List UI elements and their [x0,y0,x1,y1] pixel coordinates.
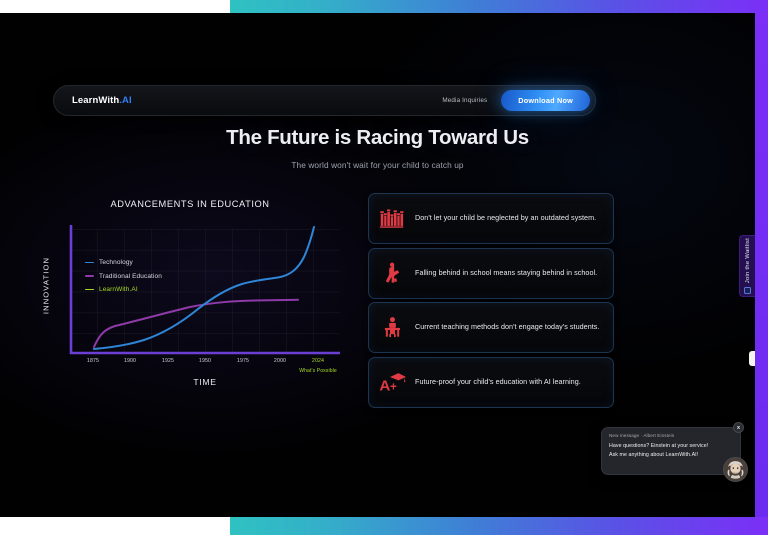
top-band-gradient-segment [230,0,768,13]
brand-logo-main: LearnWith [72,95,119,106]
chart-x-axis-label: TIME [70,377,340,387]
page-title: The Future is Racing Toward Us [0,126,755,150]
brand-logo-accent: .AI [119,95,131,106]
x-tick-1925: 1925 [162,358,174,364]
media-inquiries-link[interactable]: Media Inquiries [442,97,487,104]
avatar[interactable] [723,457,748,482]
svg-text:+: + [389,379,396,393]
brand-logo[interactable]: LearnWith.AI [72,95,132,106]
close-icon[interactable]: x [733,422,744,433]
legend-item-learnwithai: LearnWith.AI [85,286,162,293]
x-tick-2000: 2000 [274,358,286,364]
hero-subtitle: The world won't wait for your child to c… [0,160,755,170]
right-purple-rail [755,13,768,517]
svg-text:A: A [379,377,390,394]
chart-title: ADVANCEMENTS IN EDUCATION [25,199,355,209]
x-tick-1900: 1900 [124,358,136,364]
bottom-band-gradient-segment [230,517,768,535]
legend-swatch-traditional-education [85,275,94,277]
x-tick-1975: 1975 [237,358,249,364]
chart-legend: Technology Traditional Education LearnWi… [85,259,162,300]
x-tick-1950: 1950 [199,358,211,364]
falling-person-icon [377,257,407,289]
benefit-card-text: Future-proof your child's education with… [415,377,581,388]
benefit-card-text: Current teaching methods don't engage to… [415,322,600,333]
benefit-card-text: Don't let your child be neglected by an … [415,213,596,224]
browser-viewport: LearnWith.AI Media Inquiries Download No… [0,13,768,517]
crowd-people-icon [377,203,407,235]
scrollbar-handle[interactable] [749,351,755,366]
chart-annotation-whats-possible: What's Possible [299,368,337,374]
top-band-white-segment [0,0,230,13]
student-at-desk-icon [377,312,407,344]
landing-page: LearnWith.AI Media Inquiries Download No… [0,13,755,517]
a-plus-graduation-cap-icon: A + [377,366,407,398]
series-traditional-education [94,300,298,347]
benefit-card-teaching-methods[interactable]: Current teaching methods don't engage to… [368,302,614,353]
desktop-backdrop: LearnWith.AI Media Inquiries Download No… [0,0,768,535]
join-waitlist-label: Join the Waitlist [745,238,751,283]
chat-message-line-1: Have questions? Einstein at your service… [609,442,732,451]
benefit-card-falling-behind[interactable]: Falling behind in school means staying b… [368,248,614,299]
benefit-card-outdated-system[interactable]: Don't let your child be neglected by an … [368,193,614,244]
chat-meta-label: New message · Albert Einstein [609,433,732,438]
top-gradient-band [0,0,768,13]
hero-section: The Future is Racing Toward Us The world… [0,126,755,170]
top-navigation-bar: LearnWith.AI Media Inquiries Download No… [53,85,596,116]
legend-item-traditional-education: Traditional Education [85,273,162,280]
legend-swatch-technology [85,262,94,264]
waitlist-square-icon [744,287,751,294]
innovation-chart: ADVANCEMENTS IN EDUCATION INNOVATION [25,199,355,409]
chat-message-line-2: Ask me anything about LearnWith.AI! [609,451,732,460]
legend-label-technology: Technology [99,259,133,266]
benefit-cards-list: Don't let your child be neglected by an … [368,193,614,411]
benefit-card-future-proof[interactable]: A + Future-proof your child's education … [368,357,614,408]
legend-label-traditional-education: Traditional Education [99,273,162,280]
download-now-button[interactable]: Download Now [501,90,590,111]
x-tick-2024: 2024 [312,358,324,364]
legend-item-technology: Technology [85,259,162,266]
x-tick-1875: 1875 [87,358,99,364]
bottom-band-white-segment [0,517,230,535]
benefit-card-text: Falling behind in school means staying b… [415,268,597,279]
join-waitlist-tab[interactable]: Join the Waitlist [739,235,755,297]
chart-y-axis-label: INNOVATION [42,256,51,316]
chart-body: INNOVATION [25,225,355,385]
bottom-gradient-band [0,517,768,535]
legend-swatch-learnwithai [85,289,94,291]
legend-label-learnwithai: LearnWith.AI [99,286,138,293]
chat-notification-widget[interactable]: x New message · Albert Einstein Have que… [601,427,741,475]
